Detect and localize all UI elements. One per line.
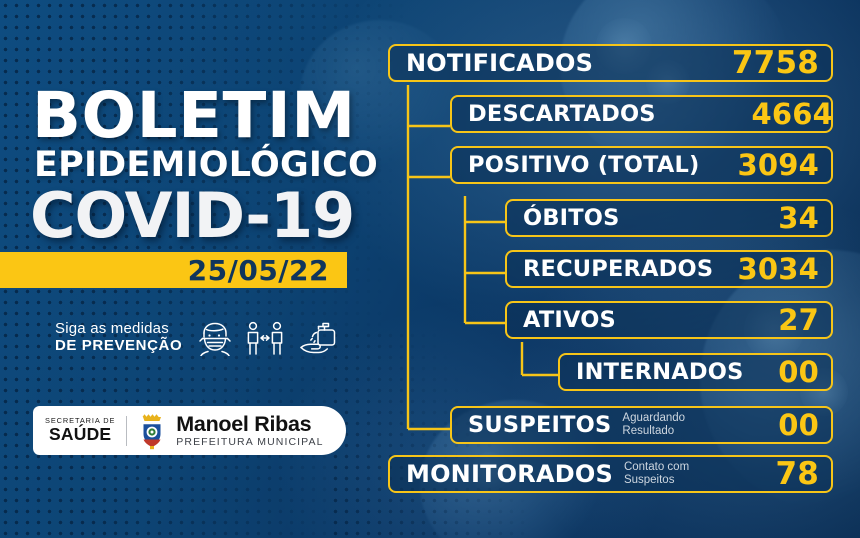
- stat-label: ATIVOS: [523, 307, 616, 333]
- stat-label: NOTIFICADOS: [406, 49, 593, 77]
- stat-sublabel: AguardandoResultado: [622, 412, 685, 438]
- stat-label: SUSPEITOS: [468, 412, 611, 438]
- stat-label: POSITIVO (TOTAL): [468, 152, 700, 178]
- stat-label: INTERNADOS: [576, 359, 744, 385]
- stat-value: 00: [778, 355, 819, 389]
- stat-row-positivo: POSITIVO (TOTAL) 3094: [450, 146, 833, 184]
- stat-sublabel: Contato comSuspeitos: [624, 461, 689, 487]
- stat-label: ÓBITOS: [523, 205, 620, 231]
- stat-row-internados: INTERNADOS 00: [558, 353, 833, 391]
- stat-value: 4664: [751, 97, 833, 131]
- stat-value: 34: [778, 201, 819, 235]
- stat-value: 27: [778, 303, 819, 337]
- stat-value: 00: [778, 408, 819, 442]
- stat-label: MONITORADOS: [406, 460, 613, 488]
- stat-row-ativos: ATIVOS 27: [505, 301, 833, 339]
- stat-row-descartados: DESCARTADOS 4664: [450, 95, 833, 133]
- stat-value: 3034: [737, 252, 819, 286]
- stat-row-recuperados: RECUPERADOS 3034: [505, 250, 833, 288]
- statistics-tree: NOTIFICADOS 7758 DESCARTADOS 4664 POSITI…: [0, 0, 860, 538]
- stat-row-monitorados: MONITORADOS Contato comSuspeitos 78: [388, 455, 833, 493]
- stat-value: 78: [775, 456, 819, 492]
- covid-bulletin-poster: BOLETIM EPIDEMIOLÓGICO COVID-19 25/05/22…: [0, 0, 860, 538]
- stat-value: 7758: [732, 45, 819, 81]
- stat-label: DESCARTADOS: [468, 101, 656, 127]
- stat-row-notificados: NOTIFICADOS 7758: [388, 44, 833, 82]
- stat-label: RECUPERADOS: [523, 256, 713, 282]
- stat-value: 3094: [737, 148, 819, 182]
- stat-row-suspeitos: SUSPEITOS AguardandoResultado 00: [450, 406, 833, 444]
- stat-row-obitos: ÓBITOS 34: [505, 199, 833, 237]
